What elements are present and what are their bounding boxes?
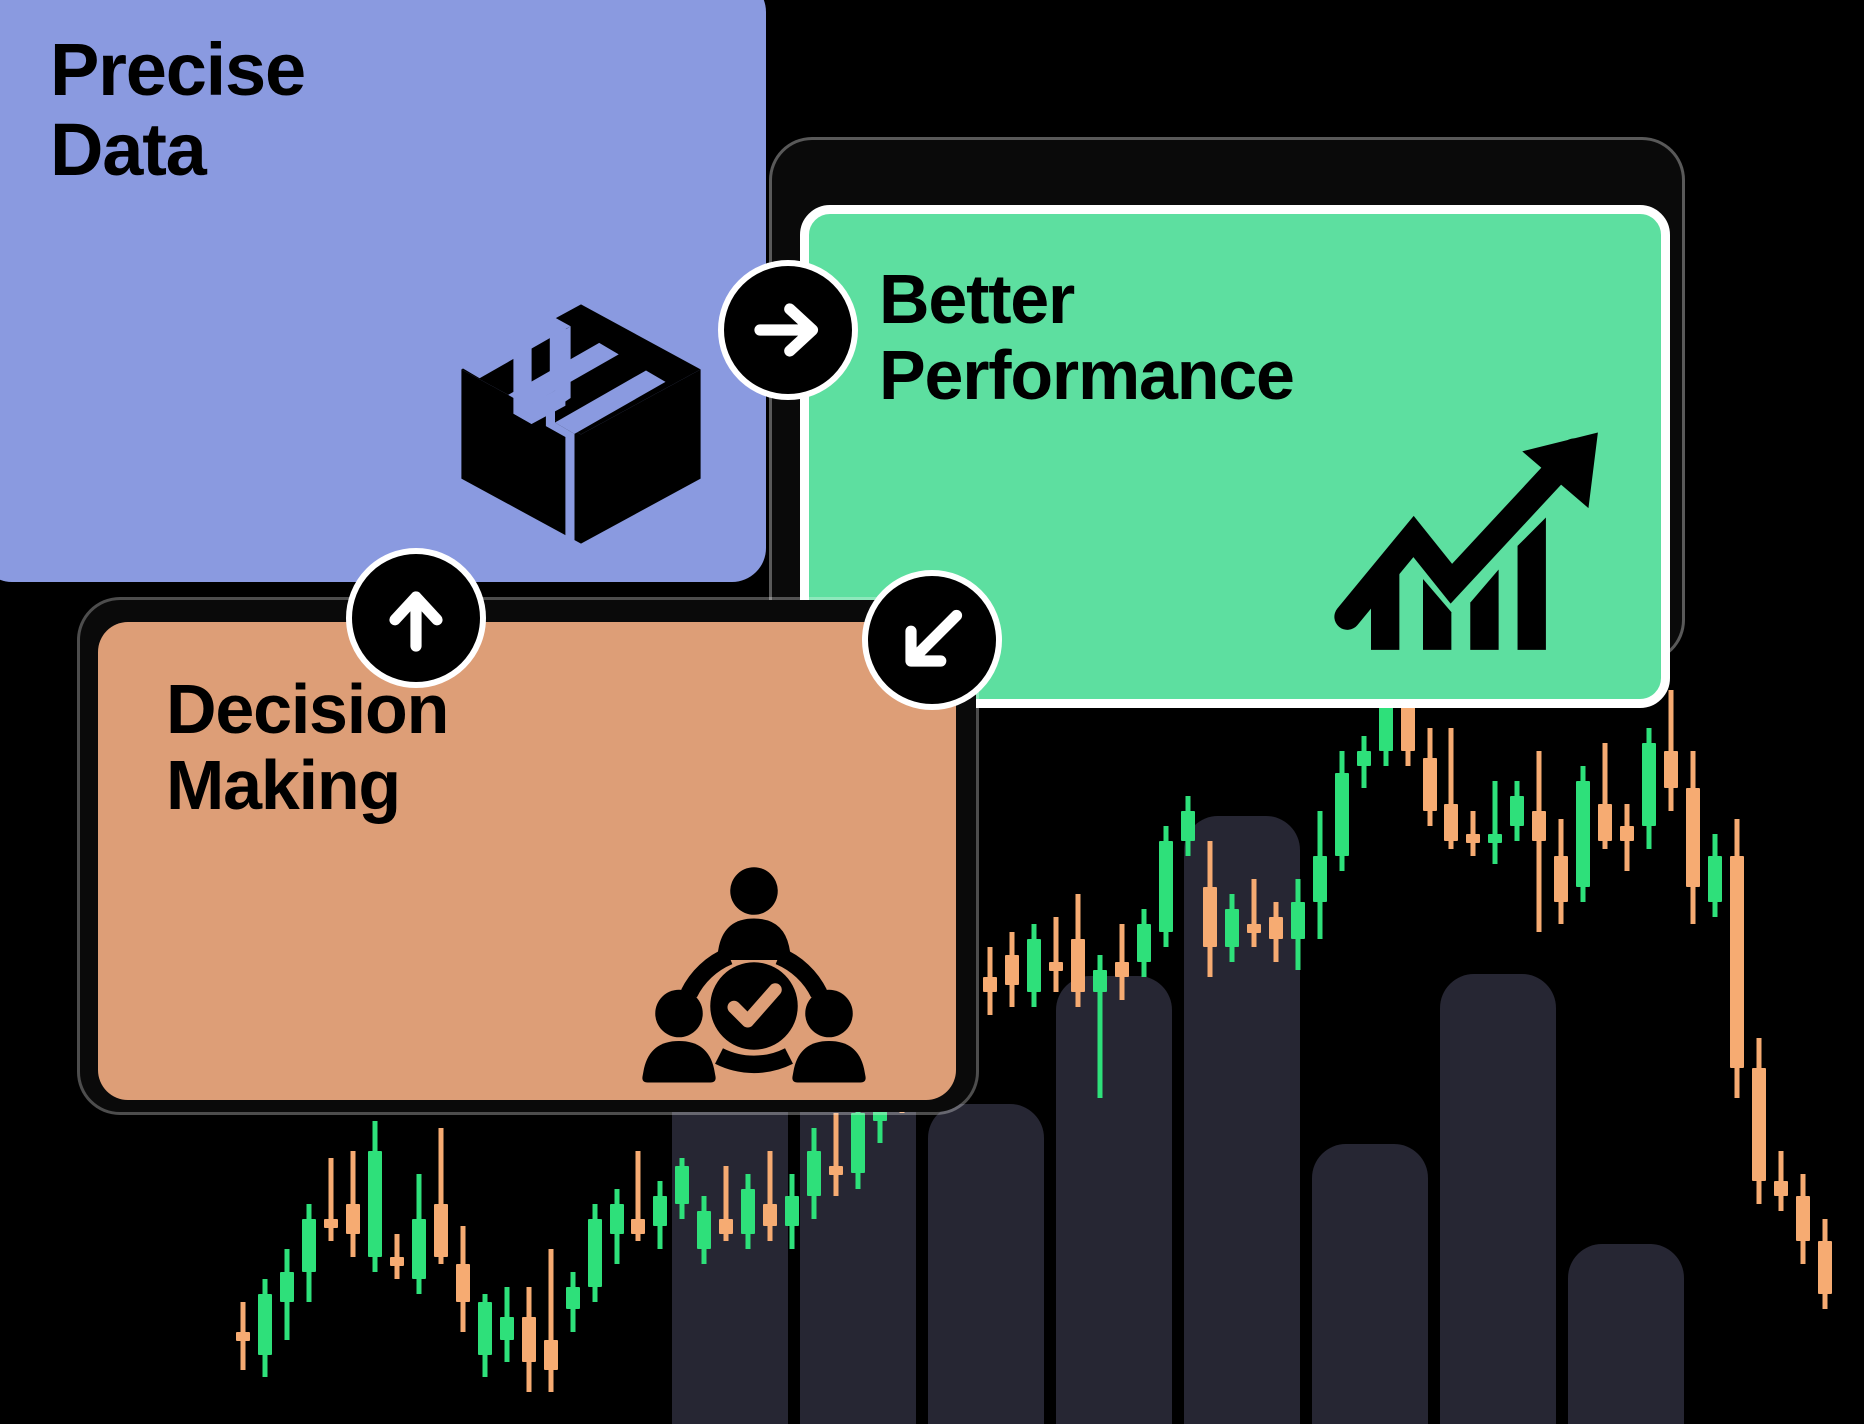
candle-wick — [1493, 781, 1498, 864]
candle-body — [1686, 788, 1700, 886]
candle-body — [434, 1204, 448, 1257]
candle-body — [1335, 773, 1349, 856]
candle-body — [588, 1219, 602, 1287]
candlestick — [1774, 0, 1788, 1424]
arrow-down-left-icon[interactable] — [862, 570, 1002, 710]
candle-body — [1774, 1181, 1788, 1196]
candle-body — [500, 1317, 514, 1340]
illustration-canvas: Precise Data Better Performanc — [0, 0, 1864, 1424]
candle-body — [1664, 751, 1678, 789]
arrow-right-icon[interactable] — [718, 260, 858, 400]
candle-body — [1115, 962, 1129, 977]
candle-wick — [1053, 917, 1058, 993]
candle-body — [1423, 758, 1437, 811]
candle-body — [1159, 841, 1173, 932]
candle-wick — [1251, 879, 1256, 947]
candlestick — [1752, 0, 1766, 1424]
candle-body — [741, 1189, 755, 1234]
candle-wick — [768, 1151, 773, 1242]
candle-body — [1225, 909, 1239, 947]
candle-body — [610, 1204, 624, 1234]
candle-body — [763, 1204, 777, 1227]
candle-body — [1554, 856, 1568, 901]
candle-body — [478, 1302, 492, 1355]
candle-body — [368, 1151, 382, 1257]
candle-body — [1488, 834, 1502, 843]
candle-wick — [328, 1158, 333, 1241]
candle-body — [1796, 1196, 1810, 1241]
candle-body — [1005, 955, 1019, 985]
candle-body — [1532, 811, 1546, 841]
candle-wick — [834, 1113, 839, 1196]
candle-body — [1620, 826, 1634, 841]
candle-body — [1466, 834, 1480, 843]
candle-body — [1576, 781, 1590, 887]
candle-body — [1203, 887, 1217, 947]
candle-body — [1313, 856, 1327, 901]
candle-body — [1291, 902, 1305, 940]
candle-body — [1181, 811, 1195, 841]
candlestick — [1730, 0, 1744, 1424]
candle-body — [1818, 1241, 1832, 1294]
candle-body — [1247, 924, 1261, 933]
candle-body — [829, 1166, 843, 1175]
candle-body — [1708, 856, 1722, 901]
candle-body — [1049, 962, 1063, 971]
candle-body — [983, 977, 997, 992]
candle-body — [1357, 751, 1371, 766]
candle-body — [1642, 743, 1656, 826]
candle-body — [236, 1332, 250, 1341]
arrow-up-icon[interactable] — [346, 548, 486, 688]
candle-body — [675, 1166, 689, 1204]
card-precise-data-title: Precise Data — [50, 30, 305, 190]
candlestick — [1796, 0, 1810, 1424]
candlestick — [1708, 0, 1722, 1424]
card-better-performance-title: Better Performance — [879, 262, 1294, 413]
growth-chart-arrow-icon — [1325, 423, 1625, 683]
candle-body — [390, 1257, 404, 1266]
card-decision-making[interactable]: Decision Making — [98, 622, 956, 1100]
candlestick — [1818, 0, 1832, 1424]
candle-body — [544, 1340, 558, 1370]
candle-body — [280, 1272, 294, 1302]
candle-body — [346, 1204, 360, 1234]
candle-body — [631, 1219, 645, 1234]
candle-body — [412, 1219, 426, 1279]
candle-body — [1093, 970, 1107, 993]
candle-body — [807, 1151, 821, 1196]
candle-wick — [1537, 751, 1542, 932]
card-decision-making-title: Decision Making — [166, 672, 448, 823]
candle-body — [851, 1113, 865, 1173]
candle-body — [1269, 917, 1283, 940]
candle-body — [653, 1196, 667, 1226]
card-precise-data[interactable]: Precise Data — [0, 0, 766, 582]
candle-body — [566, 1287, 580, 1310]
candle-wick — [548, 1249, 553, 1392]
candle-body — [1752, 1068, 1766, 1181]
candle-body — [324, 1219, 338, 1228]
candle-body — [1730, 856, 1744, 1067]
candle-body — [785, 1196, 799, 1226]
candle-body — [1444, 804, 1458, 842]
team-approval-icon — [624, 856, 884, 1100]
candle-body — [1137, 924, 1151, 962]
candlestick — [1686, 0, 1700, 1424]
candle-body — [1071, 939, 1085, 992]
candle-body — [1598, 804, 1612, 842]
candle-body — [1027, 939, 1041, 992]
candle-body — [522, 1317, 536, 1362]
candle-body — [258, 1294, 272, 1354]
candle-body — [1510, 796, 1524, 826]
package-box-icon — [446, 294, 716, 554]
candle-body — [456, 1264, 470, 1302]
candle-body — [697, 1211, 711, 1249]
candle-body — [719, 1219, 733, 1234]
candle-body — [302, 1219, 316, 1272]
